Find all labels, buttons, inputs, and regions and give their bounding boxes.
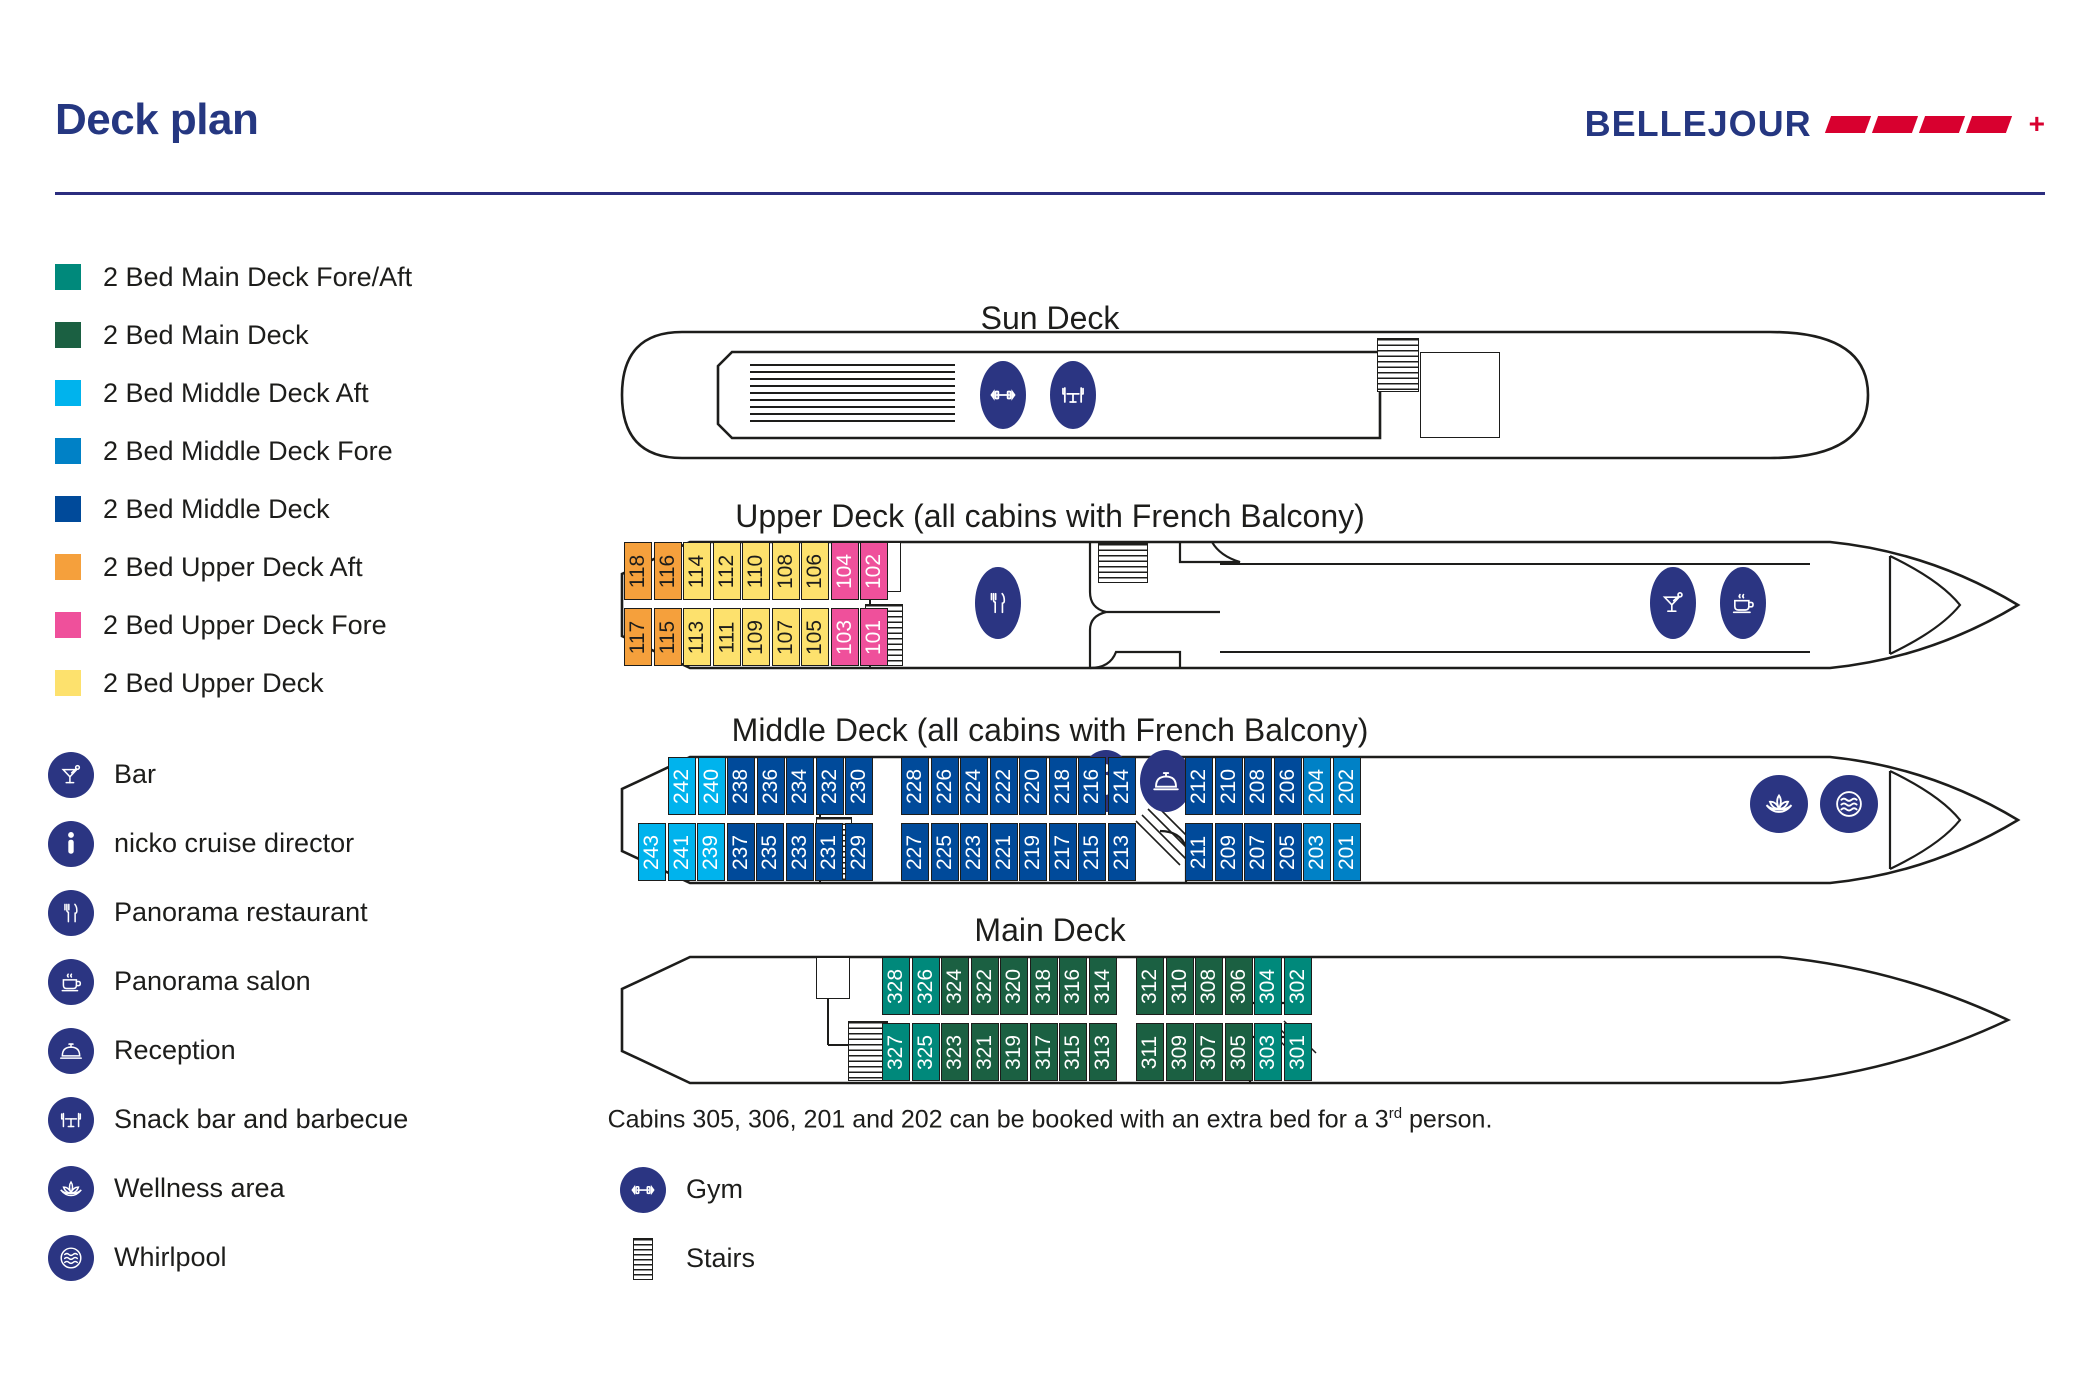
cabin-number: 317 [1033, 1034, 1054, 1069]
cabin-109[interactable]: 109 [742, 608, 770, 666]
deck-icon-snack-bar[interactable] [1050, 361, 1096, 429]
deck-icon-restaurant[interactable] [975, 567, 1021, 639]
cabin-205[interactable]: 205 [1274, 823, 1302, 881]
brand-stripe [1825, 116, 1871, 133]
cabin-number: 243 [642, 834, 663, 869]
cabin-number: 307 [1199, 1034, 1220, 1069]
deck-sun [620, 330, 1870, 460]
cabin-211[interactable]: 211 [1185, 823, 1213, 881]
cocktail-icon-badge [48, 752, 94, 798]
facility-label: Stairs [686, 1243, 755, 1274]
facility-label: Panorama salon [114, 966, 311, 997]
info-icon-badge [48, 821, 94, 867]
whirlpool-icon-badge [48, 1235, 94, 1281]
lotus-icon [57, 1175, 85, 1203]
cabin-number: 101 [864, 619, 885, 654]
cabin-number: 231 [819, 834, 840, 869]
cabin-number: 302 [1287, 968, 1308, 1003]
cabin-214[interactable]: 214 [1108, 757, 1136, 815]
deck-main-title: Main Deck [0, 912, 2100, 949]
cabin-number: 327 [886, 1034, 907, 1069]
deck-icon-bar[interactable] [1650, 567, 1696, 639]
cabin-217[interactable]: 217 [1049, 823, 1077, 881]
legend-row-main-fore-aft: 2 Bed Main Deck Fore/Aft [55, 248, 615, 306]
cabin-number: 201 [1336, 834, 1357, 869]
cabin-number: 312 [1140, 968, 1161, 1003]
cabin-number: 233 [789, 834, 810, 869]
cabin-number: 212 [1189, 768, 1210, 803]
cabin-225[interactable]: 225 [931, 823, 959, 881]
brand-stripe [1919, 116, 1965, 133]
cabin-201[interactable]: 201 [1333, 823, 1361, 881]
cabin-116[interactable]: 116 [654, 542, 682, 600]
facility-legend-secondary: GymStairs [620, 1155, 1040, 1293]
cabin-number: 303 [1258, 1034, 1279, 1069]
table-chairs-icon [1059, 381, 1087, 409]
cabin-327[interactable]: 327 [882, 1023, 910, 1081]
cabin-112[interactable]: 112 [713, 542, 741, 600]
stairs-glyph [633, 1238, 653, 1280]
legend-swatch [55, 670, 81, 696]
cabin-number: 108 [775, 553, 796, 588]
cabin-307[interactable]: 307 [1195, 1023, 1223, 1081]
brand-name: BELLEJOUR [1585, 103, 1812, 145]
brand-stripe [1966, 116, 2012, 133]
cabin-number: 114 [687, 554, 708, 587]
facility-row-stairs: Stairs [620, 1224, 1040, 1293]
cabin-234[interactable]: 234 [786, 757, 814, 815]
deck-sun-title: Sun Deck [0, 300, 2100, 337]
cabin-number: 301 [1287, 1034, 1308, 1069]
cabin-209[interactable]: 209 [1215, 823, 1243, 881]
cloche-icon-badge [48, 1028, 94, 1074]
stairs-icon [620, 1236, 666, 1282]
facility-label: Wellness area [114, 1173, 285, 1204]
cabin-number: 314 [1092, 968, 1113, 1003]
cabin-number: 230 [849, 768, 870, 803]
cabin-202[interactable]: 202 [1333, 757, 1361, 815]
cabin-number: 209 [1218, 834, 1239, 869]
deck-icon-wellness[interactable] [1750, 775, 1808, 833]
cabin-328[interactable]: 328 [882, 957, 910, 1015]
legend-swatch [55, 612, 81, 638]
legend-swatch [55, 438, 81, 464]
cabin-number: 106 [805, 553, 826, 588]
legend-row-middle-fore: 2 Bed Middle Deck Fore [55, 422, 615, 480]
cabin-number: 113 [687, 620, 708, 653]
cabin-309[interactable]: 309 [1166, 1023, 1194, 1081]
coffee-cup-icon-badge [48, 959, 94, 1005]
cabin-230[interactable]: 230 [845, 757, 873, 815]
sun-deck-stairs [1377, 338, 1419, 392]
cabin-number: 118 [628, 554, 649, 587]
brand-plus: + [2029, 110, 2045, 138]
cabin-number: 204 [1307, 768, 1328, 803]
cabin-301[interactable]: 301 [1284, 1023, 1312, 1081]
cabin-number: 321 [974, 1034, 995, 1069]
deck-icon-dumbbell[interactable] [980, 361, 1026, 429]
cabin-102[interactable]: 102 [860, 542, 888, 600]
cabin-number: 202 [1336, 768, 1357, 803]
cabin-number: 222 [993, 768, 1014, 803]
cabin-111[interactable]: 111 [713, 608, 741, 666]
cabin-104[interactable]: 104 [831, 542, 859, 600]
cabin-303[interactable]: 303 [1254, 1023, 1282, 1081]
cabin-206[interactable]: 206 [1274, 757, 1302, 815]
page-title: Deck plan [55, 95, 258, 145]
cabin-101[interactable]: 101 [860, 608, 888, 666]
cabin-218[interactable]: 218 [1049, 757, 1077, 815]
cabin-220[interactable]: 220 [1019, 757, 1047, 815]
cabin-number: 239 [701, 834, 722, 869]
cabin-241[interactable]: 241 [668, 823, 696, 881]
dumbbell-icon [989, 381, 1017, 409]
dumbbell-icon [630, 1177, 656, 1203]
cabin-237[interactable]: 237 [727, 823, 755, 881]
cabin-number: 226 [934, 768, 955, 803]
cocktail-icon [1659, 589, 1687, 617]
cabin-215[interactable]: 215 [1078, 823, 1106, 881]
facility-row-whirlpool: Whirlpool [48, 1223, 668, 1292]
legend-label: 2 Bed Upper Deck Aft [103, 552, 363, 583]
cabin-number: 235 [760, 834, 781, 869]
cabin-213[interactable]: 213 [1108, 823, 1136, 881]
cabin-number: 309 [1169, 1034, 1190, 1069]
cabin-326[interactable]: 326 [912, 957, 940, 1015]
legend-swatch [55, 554, 81, 580]
cabin-323[interactable]: 323 [941, 1023, 969, 1081]
cabin-103[interactable]: 103 [831, 608, 859, 666]
cabin-number: 228 [905, 768, 926, 803]
cabin-113[interactable]: 113 [683, 608, 711, 666]
facility-label: Whirlpool [114, 1242, 227, 1273]
cabin-208[interactable]: 208 [1244, 757, 1272, 815]
cloche-icon [58, 1038, 84, 1064]
facility-legend: Barnicko cruise directorPanorama restaur… [48, 740, 668, 1292]
cabin-number: 240 [701, 768, 722, 803]
cabin-number: 304 [1258, 968, 1279, 1003]
cabin-308[interactable]: 308 [1195, 957, 1223, 1015]
cabin-number: 215 [1082, 834, 1103, 869]
deck-icon-salon[interactable] [1720, 567, 1766, 639]
cabin-313[interactable]: 313 [1089, 1023, 1117, 1081]
legend-label: 2 Bed Main Deck Fore/Aft [103, 262, 412, 293]
cabin-number: 116 [657, 554, 678, 587]
cabin-number: 232 [819, 768, 840, 803]
cabin-number: 117 [628, 620, 649, 653]
legend-label: 2 Bed Middle Deck Fore [103, 436, 393, 467]
cabin-224[interactable]: 224 [960, 757, 988, 815]
cabin-number: 315 [1063, 1034, 1084, 1069]
cabin-number: 206 [1277, 768, 1298, 803]
cabin-number: 238 [731, 768, 752, 803]
cloche-icon [1151, 766, 1181, 796]
cabin-324[interactable]: 324 [941, 957, 969, 1015]
cabin-312[interactable]: 312 [1136, 957, 1164, 1015]
page-header: Deck plan BELLEJOUR + [55, 95, 2045, 185]
cabin-number: 236 [760, 768, 781, 803]
cabin-number: 213 [1111, 834, 1132, 869]
cabin-number: 313 [1092, 1034, 1113, 1069]
cabin-number: 320 [1004, 968, 1025, 1003]
cabin-107[interactable]: 107 [772, 608, 800, 666]
cabin-number: 308 [1199, 968, 1220, 1003]
cabin-number: 104 [834, 553, 855, 588]
facility-row-lotus: Wellness area [48, 1154, 668, 1223]
cabin-228[interactable]: 228 [901, 757, 929, 815]
cabin-number: 221 [993, 834, 1014, 869]
cabin-number: 242 [672, 768, 693, 803]
legend-row-upper: 2 Bed Upper Deck [55, 654, 615, 712]
cabin-229[interactable]: 229 [845, 823, 873, 881]
cabin-108[interactable]: 108 [772, 542, 800, 600]
whirlpool-icon [1832, 787, 1866, 821]
cabin-210[interactable]: 210 [1215, 757, 1243, 815]
brand-stripes [1828, 116, 2009, 133]
lotus-icon-badge [48, 1166, 94, 1212]
cabin-118[interactable]: 118 [624, 542, 652, 600]
cabin-222[interactable]: 222 [990, 757, 1018, 815]
cabin-number: 237 [730, 834, 751, 869]
cabin-number: 205 [1277, 834, 1298, 869]
cabin-314[interactable]: 314 [1089, 957, 1117, 1015]
cabin-number: 203 [1307, 834, 1328, 869]
legend-row-middle-aft: 2 Bed Middle Deck Aft [55, 364, 615, 422]
cabin-number: 110 [746, 554, 767, 587]
sun-loungers [750, 364, 955, 426]
facility-label: Reception [114, 1035, 236, 1066]
facility-row-cloche: Reception [48, 1016, 668, 1085]
upper-deck-stairs-mid [1098, 543, 1148, 583]
cabin-304[interactable]: 304 [1254, 957, 1282, 1015]
brand-logo: BELLEJOUR + [1585, 103, 2045, 145]
header-divider [55, 192, 2045, 195]
cabin-315[interactable]: 315 [1059, 1023, 1087, 1081]
cabin-105[interactable]: 105 [801, 608, 829, 666]
cabin-231[interactable]: 231 [815, 823, 843, 881]
legend-label: 2 Bed Middle Deck Aft [103, 378, 369, 409]
whirlpool-icon [57, 1244, 85, 1272]
cabin-207[interactable]: 207 [1244, 823, 1272, 881]
cabin-243[interactable]: 243 [638, 823, 666, 881]
cabin-number: 326 [915, 968, 936, 1003]
cabin-219[interactable]: 219 [1019, 823, 1047, 881]
cabin-203[interactable]: 203 [1303, 823, 1331, 881]
cabin-number: 306 [1228, 968, 1249, 1003]
cabin-number: 220 [1023, 768, 1044, 803]
cabin-number: 105 [805, 619, 826, 654]
legend-swatch [55, 380, 81, 406]
legend-row-upper-fore: 2 Bed Upper Deck Fore [55, 596, 615, 654]
dumbbell-icon-badge [620, 1167, 666, 1213]
cabin-number: 103 [834, 619, 855, 654]
cabin-number: 319 [1004, 1034, 1025, 1069]
cabin-number: 322 [974, 968, 995, 1003]
cabin-number: 241 [671, 834, 692, 869]
cabin-117[interactable]: 117 [624, 608, 652, 666]
cabin-number: 318 [1033, 968, 1054, 1003]
cabin-242[interactable]: 242 [668, 757, 696, 815]
cabin-number: 328 [886, 968, 907, 1003]
cabin-321[interactable]: 321 [971, 1023, 999, 1081]
cabin-number: 107 [775, 619, 796, 654]
cabin-232[interactable]: 232 [816, 757, 844, 815]
facility-row-info: nicko cruise director [48, 809, 668, 878]
cabin-number: 102 [864, 553, 885, 588]
footnote-ordinal: rd [1389, 1105, 1402, 1122]
cabin-233[interactable]: 233 [786, 823, 814, 881]
cabin-number: 224 [964, 768, 985, 803]
cabin-235[interactable]: 235 [756, 823, 784, 881]
cabin-317[interactable]: 317 [1030, 1023, 1058, 1081]
cabin-227[interactable]: 227 [901, 823, 929, 881]
cabin-310[interactable]: 310 [1166, 957, 1194, 1015]
cabin-number: 324 [945, 968, 966, 1003]
cabin-320[interactable]: 320 [1000, 957, 1028, 1015]
facility-label: Bar [114, 759, 156, 790]
cabin-number: 115 [657, 620, 678, 653]
cabin-number: 109 [746, 619, 767, 654]
cabin-number: 214 [1111, 768, 1132, 803]
cabin-number: 227 [905, 834, 926, 869]
facility-row-cocktail: Bar [48, 740, 668, 809]
deck-upper-title: Upper Deck (all cabins with French Balco… [0, 498, 2100, 535]
cabin-number: 210 [1218, 768, 1239, 803]
cabin-305[interactable]: 305 [1225, 1023, 1253, 1081]
cabin-114[interactable]: 114 [683, 542, 711, 600]
cabin-106[interactable]: 106 [801, 542, 829, 600]
lotus-icon [1762, 787, 1796, 821]
cabin-325[interactable]: 325 [912, 1023, 940, 1081]
cabin-316[interactable]: 316 [1059, 957, 1087, 1015]
cabin-number: 323 [945, 1034, 966, 1069]
cabin-204[interactable]: 204 [1303, 757, 1331, 815]
cabin-number: 234 [790, 768, 811, 803]
legend-row-upper-aft: 2 Bed Upper Deck Aft [55, 538, 615, 596]
cabin-311[interactable]: 311 [1136, 1023, 1164, 1081]
cocktail-icon [58, 762, 84, 788]
cabin-number: 112 [716, 554, 737, 587]
info-icon [63, 830, 79, 858]
cabin-number: 311 [1140, 1035, 1161, 1068]
facility-row-coffee-cup: Panorama salon [48, 947, 668, 1016]
cabin-216[interactable]: 216 [1078, 757, 1106, 815]
cabin-number: 207 [1248, 834, 1269, 869]
sun-deck-structure [1420, 352, 1500, 438]
cabin-212[interactable]: 212 [1185, 757, 1213, 815]
cabin-number: 223 [964, 834, 985, 869]
cabin-306[interactable]: 306 [1225, 957, 1253, 1015]
facility-row-dumbbell: Gym [620, 1155, 1040, 1224]
cabin-number: 216 [1082, 768, 1103, 803]
cabin-number: 229 [848, 834, 869, 869]
facility-label: nicko cruise director [114, 828, 354, 859]
deck-middle: 2422402382362342322302282262242222202182… [620, 755, 2020, 885]
legend-label: 2 Bed Upper Deck Fore [103, 610, 387, 641]
cabin-115[interactable]: 115 [654, 608, 682, 666]
cabin-319[interactable]: 319 [1000, 1023, 1028, 1081]
coffee-cup-icon [1729, 589, 1757, 617]
cabin-number: 310 [1169, 968, 1190, 1003]
deck-icon-whirlpool[interactable] [1820, 775, 1878, 833]
cabin-number: 325 [915, 1034, 936, 1069]
cabin-223[interactable]: 223 [960, 823, 988, 881]
cabin-239[interactable]: 239 [697, 823, 725, 881]
cabin-number: 218 [1052, 768, 1073, 803]
cabin-226[interactable]: 226 [931, 757, 959, 815]
footnote: Cabins 305, 306, 201 and 202 can be book… [0, 1105, 2100, 1134]
legend-label: 2 Bed Upper Deck [103, 668, 324, 699]
cabin-318[interactable]: 318 [1030, 957, 1058, 1015]
cabin-240[interactable]: 240 [698, 757, 726, 815]
deck-upper: 1181161141121101081061041021171151131111… [620, 540, 2020, 670]
brand-stripe [1872, 116, 1918, 133]
facility-label: Gym [686, 1174, 743, 1205]
cabin-110[interactable]: 110 [742, 542, 770, 600]
cabin-236[interactable]: 236 [757, 757, 785, 815]
deck-main: 3283263243223203183163143123103083063043… [620, 955, 2010, 1085]
cabin-number: 208 [1248, 768, 1269, 803]
cabin-number: 305 [1228, 1034, 1249, 1069]
coffee-cup-icon [58, 969, 84, 995]
cabin-number: 111 [716, 621, 737, 653]
cabin-number: 316 [1063, 968, 1084, 1003]
cutlery-icon [984, 589, 1012, 617]
cabin-322[interactable]: 322 [971, 957, 999, 1015]
main-deck-structure [816, 957, 850, 999]
cabin-238[interactable]: 238 [727, 757, 755, 815]
cabin-221[interactable]: 221 [990, 823, 1018, 881]
deck-middle-title: Middle Deck (all cabins with French Balc… [0, 712, 2100, 749]
legend-swatch [55, 264, 81, 290]
cabin-number: 211 [1189, 835, 1210, 868]
cabin-302[interactable]: 302 [1284, 957, 1312, 1015]
cabin-number: 217 [1052, 834, 1073, 869]
cabin-number: 225 [934, 834, 955, 869]
cabin-number: 219 [1023, 834, 1044, 869]
